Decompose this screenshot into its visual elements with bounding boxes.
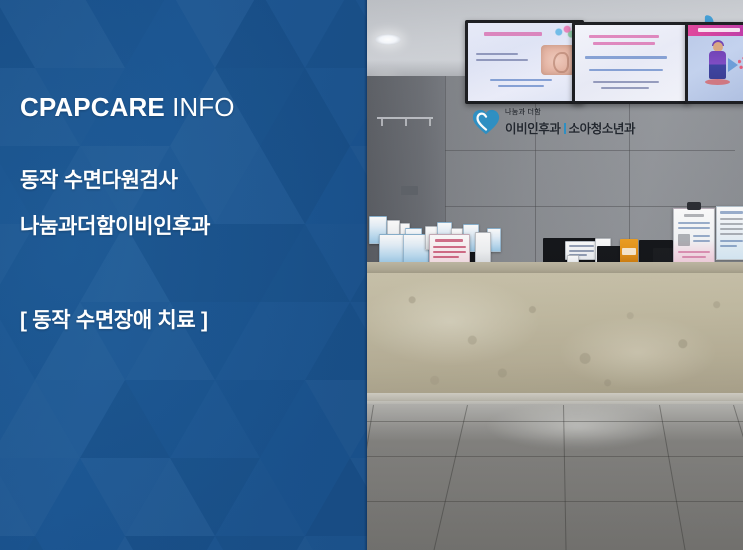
screen-text-line bbox=[498, 85, 544, 87]
screen-text-line bbox=[698, 28, 740, 32]
brand-name: CPAPCARE bbox=[20, 92, 165, 122]
poster-text-line bbox=[720, 245, 737, 247]
heart-logo-icon bbox=[471, 108, 501, 138]
poster-text-line bbox=[720, 240, 743, 242]
poster-text-line bbox=[682, 256, 706, 258]
brochure-holder bbox=[379, 234, 405, 264]
ear-illustration-icon bbox=[541, 45, 575, 75]
price-poster bbox=[716, 206, 743, 260]
clinic-dept-pediatrics: 소아청소년과 bbox=[569, 122, 636, 136]
tile-grout-line bbox=[367, 456, 743, 457]
info-display-left bbox=[465, 20, 584, 104]
figure-shadow bbox=[705, 79, 730, 85]
clinic-dept-ent: 이비인후과 bbox=[505, 122, 561, 136]
screen-text-line bbox=[601, 87, 649, 89]
poster-text-line bbox=[693, 240, 710, 242]
particles-icon bbox=[738, 57, 743, 69]
screen-text-line bbox=[593, 42, 655, 45]
sign-text-line bbox=[433, 251, 466, 253]
rail-hook-icon bbox=[405, 119, 407, 126]
screen-text-line bbox=[589, 35, 659, 38]
arrow-icon bbox=[728, 58, 738, 72]
subtitle-line-1: 동작 수면다원검사 bbox=[20, 168, 350, 193]
screen-text-line bbox=[484, 32, 542, 36]
poster-text-line bbox=[720, 218, 743, 220]
info-display-center bbox=[572, 22, 689, 104]
page-title: CPAPCARE INFO bbox=[20, 92, 350, 122]
wall-seam bbox=[445, 150, 735, 151]
sign-text-line bbox=[433, 246, 466, 248]
screen-content bbox=[575, 25, 686, 101]
screen-text-line bbox=[490, 79, 552, 81]
ceiling-light-icon bbox=[375, 34, 401, 45]
tiled-floor bbox=[367, 393, 743, 550]
poster-clip-icon bbox=[687, 202, 701, 210]
screen-text-line bbox=[589, 69, 663, 71]
clinic-reception-photo: 나눔과 더함 이비인후과소아청소년과 bbox=[367, 0, 743, 550]
poster-text-line bbox=[684, 214, 704, 217]
screen-content bbox=[468, 23, 581, 101]
screen-text-line bbox=[476, 53, 518, 55]
ear-inner-shape bbox=[553, 52, 569, 73]
sign-text-line bbox=[433, 256, 459, 258]
poster-text-line bbox=[720, 233, 743, 235]
poster-text-line bbox=[678, 227, 710, 229]
counter-front-panel bbox=[367, 273, 743, 395]
clinic-sign-top-text: 나눔과 더함 bbox=[505, 107, 541, 117]
sign-text-line bbox=[569, 245, 594, 247]
subtitle-line-2: 나눔과더함이비인후과 bbox=[20, 214, 350, 239]
cpapcare-info-banner: CPAPCARE INFO 동작 수면다원검사 나눔과더함이비인후과 [ 동작 … bbox=[0, 0, 743, 550]
poster-text-line bbox=[678, 222, 710, 224]
poster-stand bbox=[673, 208, 715, 266]
figure-body bbox=[709, 51, 726, 79]
poster-image bbox=[678, 234, 690, 246]
counter-stone-texture bbox=[367, 273, 743, 395]
tile-grout-line bbox=[367, 501, 743, 502]
left-blue-panel: CPAPCARE INFO 동작 수면다원검사 나눔과더함이비인후과 [ 동작 … bbox=[0, 0, 367, 550]
clinic-sign-main-text: 이비인후과소아청소년과 bbox=[505, 118, 635, 137]
title-suffix: INFO bbox=[165, 92, 235, 122]
clinic-signage: 나눔과 더함 이비인후과소아청소년과 bbox=[471, 104, 635, 142]
poster-text-line bbox=[678, 251, 710, 253]
screen-content bbox=[688, 25, 743, 101]
sign-text-line bbox=[569, 250, 594, 252]
banner-text-block: CPAPCARE INFO 동작 수면다원검사 나눔과더함이비인후과 [ 동작 … bbox=[20, 92, 350, 333]
wall-room-label bbox=[401, 186, 418, 195]
brochure-holder bbox=[475, 232, 491, 264]
floor-reflection bbox=[487, 403, 667, 449]
poster-text-line bbox=[720, 223, 743, 225]
counter-monitor bbox=[653, 248, 675, 263]
bracket-caption: [ 동작 수면장애 치료 ] bbox=[20, 308, 350, 333]
screen-text-line bbox=[476, 59, 528, 61]
poster-text-line bbox=[720, 228, 743, 230]
sign-divider-icon bbox=[564, 123, 566, 134]
poster-text-line bbox=[720, 211, 743, 214]
tile-grout-line bbox=[367, 421, 743, 422]
orange-dispenser-box bbox=[620, 239, 638, 263]
screen-text-line bbox=[585, 56, 667, 59]
screen-text-line bbox=[593, 81, 659, 83]
rail-hook-icon bbox=[429, 119, 431, 126]
rail-hook-icon bbox=[381, 119, 383, 126]
sign-text-line bbox=[435, 239, 463, 242]
box-label bbox=[622, 248, 636, 255]
info-display-right bbox=[685, 22, 743, 104]
poster-text-line bbox=[693, 235, 710, 237]
info-sign bbox=[429, 234, 470, 265]
